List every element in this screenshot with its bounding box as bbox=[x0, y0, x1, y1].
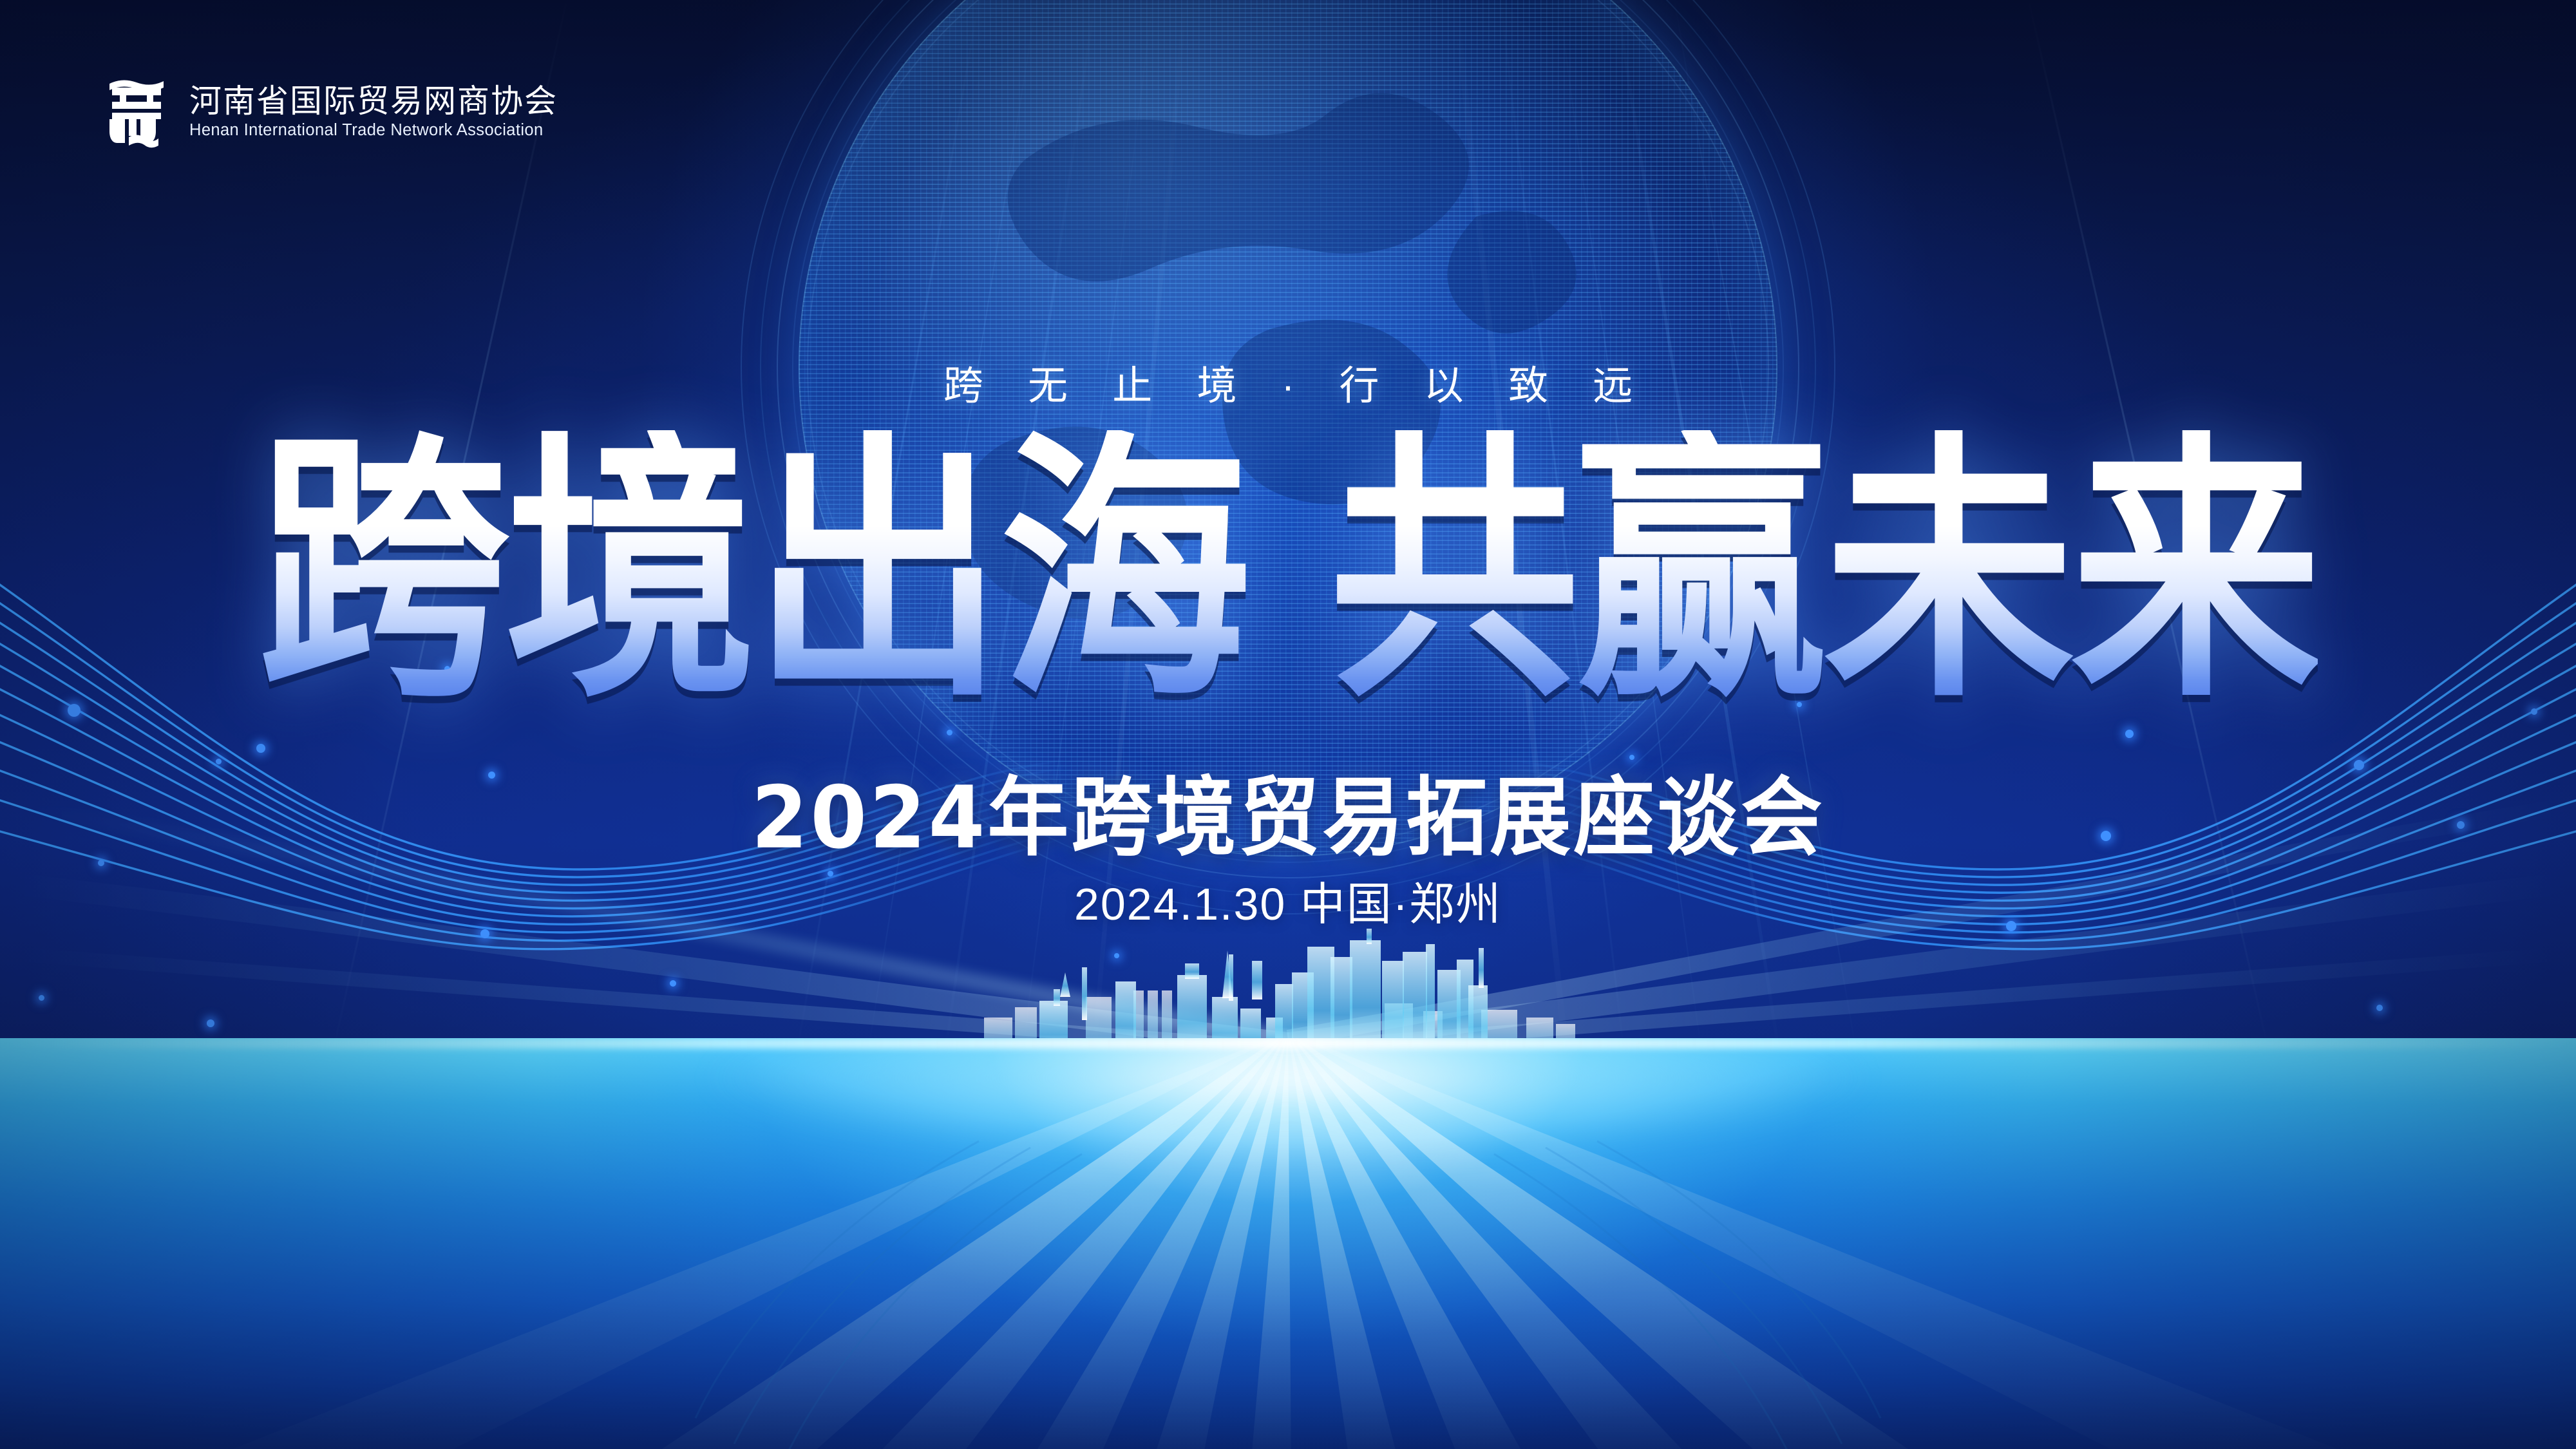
horizon-line bbox=[0, 1038, 2576, 1048]
headline-part-2: 共赢未来 bbox=[1329, 430, 2318, 712]
horizon-glow bbox=[451, 1038, 2125, 1231]
event-dateline: 2024.1.30 中国·郑州 bbox=[0, 868, 2576, 933]
logo-text-block: 河南省国际贸易网商协会 Henan International Trade Ne… bbox=[189, 85, 558, 139]
light-burst-horizon bbox=[0, 1038, 2576, 1449]
organization-logo[interactable]: 河南省国际贸易网商协会 Henan International Trade Ne… bbox=[103, 76, 558, 148]
tagline: 跨 无 止 境 · 行 以 致 远 bbox=[0, 353, 2576, 411]
event-subtitle: 2024年跨境贸易拓展座谈会 bbox=[0, 748, 2576, 873]
headline-part-1: 跨境出海 bbox=[258, 430, 1247, 712]
logo-chinese-name: 河南省国际贸易网商协会 bbox=[189, 85, 558, 117]
seal-mark-icon bbox=[103, 76, 170, 148]
event-poster: 河南省国际贸易网商协会 Henan International Trade Ne… bbox=[0, 0, 2576, 1449]
logo-english-name: Henan International Trade Network Associ… bbox=[189, 122, 558, 139]
headline: 跨境出海 共赢未来 bbox=[0, 430, 2576, 681]
